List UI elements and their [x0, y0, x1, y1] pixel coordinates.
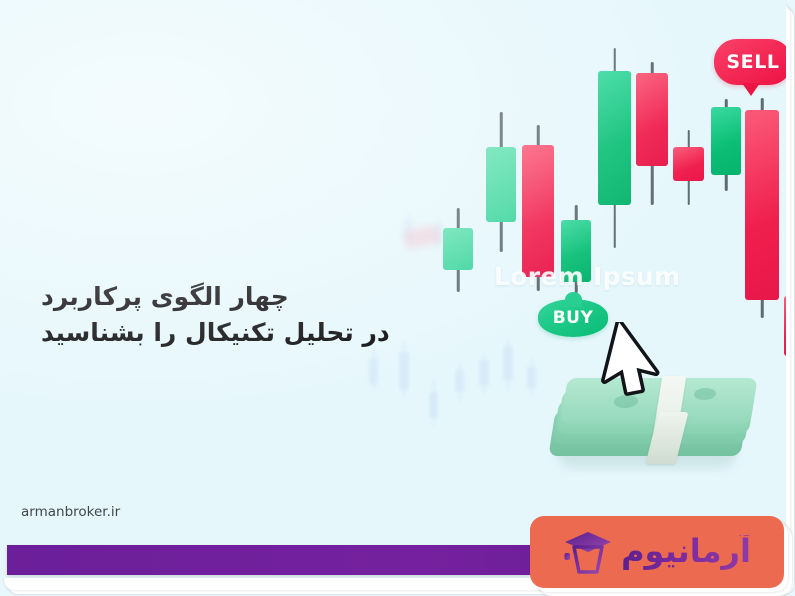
candle-1: [443, 208, 473, 298]
page-title: چهار الگوی پرکاربرد در تحلیل تکنیکال را …: [41, 279, 441, 350]
watermark-text: Lorem Ipsum: [494, 262, 680, 291]
brand-logo-text: آرمانیوم: [621, 535, 751, 570]
headline-line-1: چهار الگوی پرکاربرد: [41, 279, 441, 315]
sell-signal-badge[interactable]: SELL: [714, 39, 786, 85]
buy-badge-label: BUY: [553, 308, 594, 328]
site-url-label: armanbroker.ir: [21, 504, 120, 520]
candle-5: [598, 48, 631, 250]
sell-badge-label: SELL: [726, 51, 779, 73]
candle-6: [636, 62, 668, 207]
banner-stage: Lorem Ipsum SELL BUY: [0, 0, 795, 596]
candle-8: [711, 99, 741, 193]
candle-2: [486, 112, 516, 254]
brand-logo-badge[interactable]: آرمانیوم: [530, 516, 784, 588]
graduation-cap-icon: [563, 529, 613, 575]
mouse-pointer-arrow-icon: [596, 322, 680, 402]
candle-9: [745, 98, 779, 320]
sell-badge-tail: [742, 83, 760, 96]
candle-7: [673, 130, 704, 207]
headline-line-2: در تحلیل تکنیکال را بشناسید: [41, 315, 441, 351]
candle-10: [784, 288, 786, 364]
banner-card: Lorem Ipsum SELL BUY: [0, 0, 786, 578]
